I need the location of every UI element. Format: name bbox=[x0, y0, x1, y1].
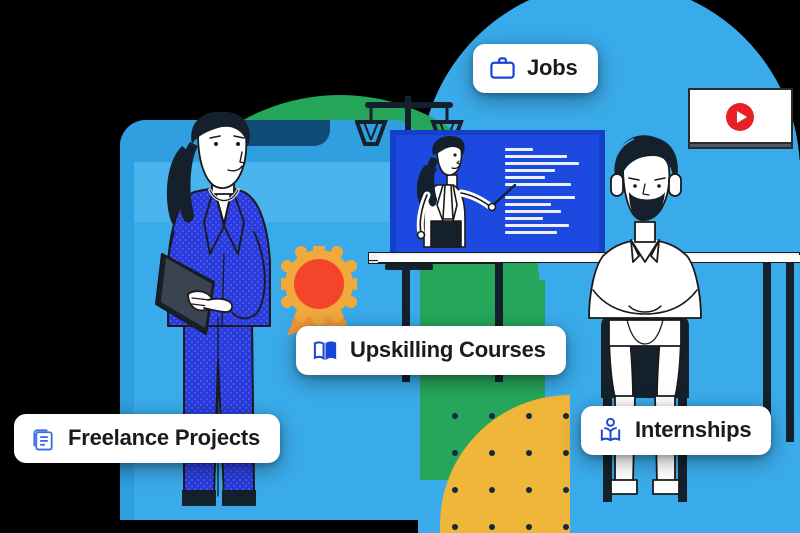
label-pill-freelance-projects[interactable]: Freelance Projects bbox=[14, 414, 280, 463]
open-book-icon bbox=[312, 337, 339, 364]
briefcase-icon bbox=[489, 55, 516, 82]
pattern-dot bbox=[563, 524, 569, 530]
label-text: Jobs bbox=[527, 56, 578, 80]
pattern-dot bbox=[526, 487, 532, 493]
person-reading-icon bbox=[597, 417, 624, 444]
documents-icon bbox=[30, 425, 57, 452]
label-pill-upskilling-courses[interactable]: Upskilling Courses bbox=[296, 326, 566, 375]
desk-leg-right2 bbox=[786, 262, 794, 442]
label-text: Freelance Projects bbox=[68, 426, 260, 450]
pattern-dot bbox=[452, 450, 458, 456]
pattern-dot bbox=[489, 524, 495, 530]
illustration-canvas: Jobs Upskilling Courses Freelance Projec… bbox=[0, 0, 800, 533]
label-text: Upskilling Courses bbox=[350, 338, 546, 362]
play-triangle-icon bbox=[737, 111, 747, 123]
pattern-dot bbox=[489, 413, 495, 419]
label-pill-internships[interactable]: Internships bbox=[581, 406, 771, 455]
woman-teacher-presenting bbox=[403, 135, 531, 260]
video-monitor-base bbox=[688, 142, 793, 149]
label-text: Internships bbox=[635, 418, 751, 442]
pattern-dot bbox=[563, 450, 569, 456]
pattern-dot bbox=[452, 487, 458, 493]
man-at-desk-with-headphones bbox=[575, 130, 715, 520]
pattern-dot bbox=[526, 450, 532, 456]
label-pill-jobs[interactable]: Jobs bbox=[473, 44, 598, 93]
pattern-dot bbox=[489, 487, 495, 493]
pattern-dot bbox=[563, 413, 569, 419]
pattern-dot bbox=[526, 413, 532, 419]
pattern-dot bbox=[489, 450, 495, 456]
pattern-dot bbox=[452, 413, 458, 419]
pattern-dot bbox=[452, 524, 458, 530]
play-button-icon[interactable] bbox=[726, 103, 754, 131]
pattern-dot bbox=[526, 524, 532, 530]
pattern-dot bbox=[563, 487, 569, 493]
